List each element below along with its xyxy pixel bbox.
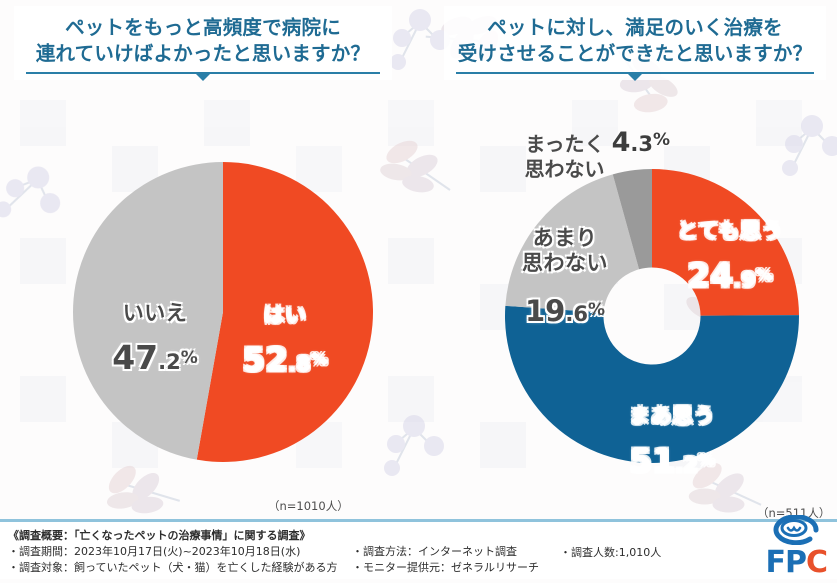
pie-label-iie: いいえ 47.2% <box>85 285 225 392</box>
donut-label-mattaku: まったく 思わない 4.3% <box>470 112 670 199</box>
fpc-mark-icon <box>770 515 822 545</box>
donut-label-amari-name: あまり 思わない <box>495 226 635 276</box>
fpc-wordmark: FPC <box>765 549 827 577</box>
banner-arrow-right-icon <box>627 73 643 81</box>
footer-count: ・調査人数:1,010人 <box>560 544 661 560</box>
question-title-left: ペットをもっと高頻度で病院に 連れていけばよかったと思いますか？ <box>14 6 392 67</box>
fpc-wordmark-fp: FP <box>765 545 805 580</box>
question-title-right: ペットに対し、満足のいく治療を 受けさせることができたと思いますか？ <box>444 6 826 67</box>
footer-left-column: 《調査概要：「亡くなったペットの治療事情」に関する調査》 ・調査期間：2023年… <box>8 528 337 576</box>
donut-label-totemo: とても思う 24.9% <box>650 203 810 310</box>
question-banner-left: ペットをもっと高頻度で病院に 連れていけばよかったと思いますか？ <box>14 6 392 80</box>
question-banner-right: ペットに対し、満足のいく治療を 受けさせることができたと思いますか？ <box>444 6 826 80</box>
pie-label-hai-name: はい <box>205 304 365 326</box>
banner-arrow-left-icon <box>195 73 211 81</box>
pie-label-iie-value: 47.2% <box>85 341 225 376</box>
pie-label-hai-value: 52.8% <box>205 343 365 378</box>
footer-target: ・調査対象：飼っていたペット（犬・猫）を亡くした経験がある方 <box>8 560 337 576</box>
donut-label-amari-value: 19.6% <box>495 294 635 328</box>
survey-footer: 《調査概要：「亡くなったペットの治療事情」に関する調査》 ・調査期間：2023年… <box>0 519 837 579</box>
pie-label-iie-name: いいえ <box>85 302 225 324</box>
footer-method: ・調査方法：インターネット調査 <box>352 544 539 560</box>
fpc-logo: FPC <box>765 515 827 577</box>
pie-label-hai: はい 52.8% <box>205 287 365 394</box>
footer-monitor: ・モニター提供元：ゼネラルリサーチ <box>352 560 539 576</box>
donut-label-totemo-name: とても思う <box>650 220 810 242</box>
donut-label-mattaku-name: まったく 思わない <box>525 132 605 182</box>
donut-label-totemo-value: 24.9% <box>650 259 810 294</box>
sample-size-left: （n=1010人） <box>268 498 349 514</box>
donut-label-maa-value: 51.2% <box>582 444 762 479</box>
donut-label-amari: あまり 思わない 19.6% <box>495 207 635 347</box>
donut-label-mattaku-value: 4.3% <box>612 129 670 157</box>
footer-period: ・調査期間：2023年10月17日(火)~2023年10月18日(水) <box>8 544 337 560</box>
footer-right-column: ・調査方法：インターネット調査 ・モニター提供元：ゼネラルリサーチ <box>352 544 539 576</box>
donut-label-maa-name: まあ思う <box>582 405 762 427</box>
donut-label-maa: まあ思う 51.2% <box>582 388 762 495</box>
fpc-wordmark-c: C <box>806 545 827 580</box>
footer-summary: 《調査概要：「亡くなったペットの治療事情」に関する調査》 <box>8 528 337 544</box>
